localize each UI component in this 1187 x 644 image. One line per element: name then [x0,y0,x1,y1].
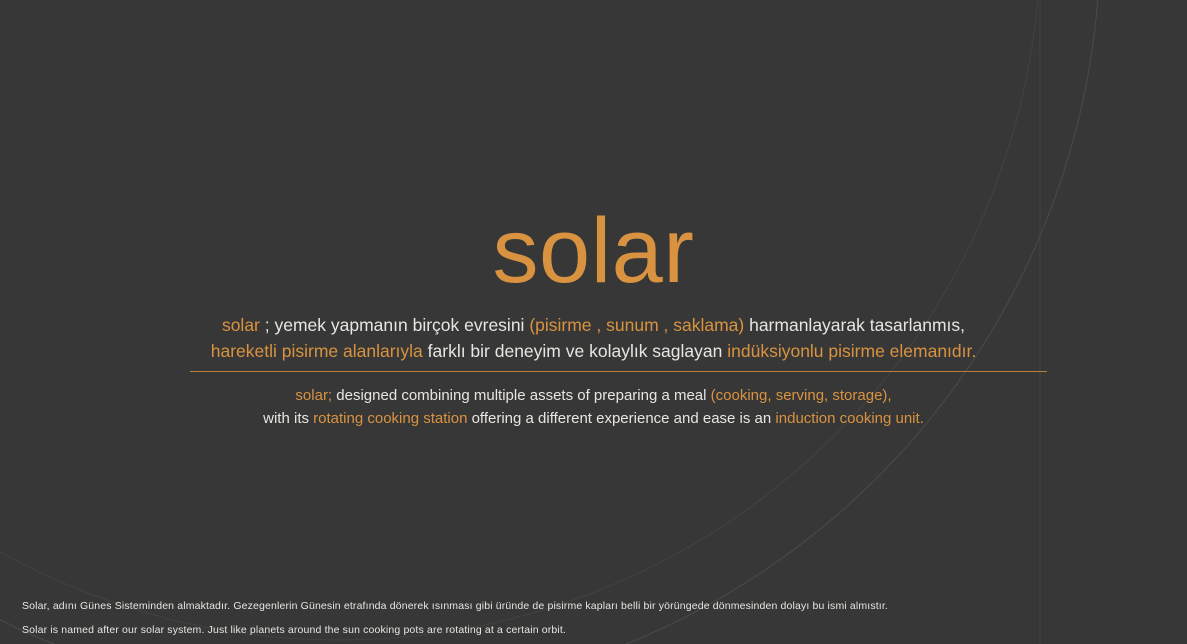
english-description: solar; designed combining multiple asset… [0,384,1187,430]
turkish-line1-seg1: ; yemek yapmanın birçok evresini [260,315,529,335]
turkish-line2-accent1: hareketli pisirme alanlarıyla [211,341,423,361]
english-line2-accent1: rotating cooking station [313,410,467,427]
turkish-line1-seg2: harmanlayarak tasarlanmıs, [744,315,965,335]
turkish-line-1: solar ; yemek yapmanın birçok evresini (… [0,312,1187,338]
english-line-1: solar; designed combining multiple asset… [0,384,1187,407]
divider-rule [190,371,1047,372]
english-line1-accent1: (cooking, serving, storage), [711,387,892,404]
brand-word-tr: solar [222,315,260,335]
turkish-line-2: hareketli pisirme alanlarıyla farklı bir… [0,338,1187,364]
brand-word-en: solar; [295,387,332,404]
english-line-2: with its rotating cooking station offeri… [0,407,1187,430]
english-line1-seg1: designed combining multiple assets of pr… [332,387,711,404]
turkish-line1-accent1: (pisirme , sunum , saklama) [529,315,744,335]
turkish-description: solar ; yemek yapmanın birçok evresini (… [0,312,1187,364]
english-line2-seg2: offering a different experience and ease… [467,410,775,427]
footnote-turkish: Solar, adını Günes Sisteminden almaktadı… [22,598,1122,614]
english-line2-seg1: with its [263,410,313,427]
turkish-line2-seg1: farklı bir deneyim ve kolaylık saglayan [423,341,727,361]
footnote-english: Solar is named after our solar system. J… [22,622,1122,638]
english-line2-accent2: induction cooking unit. [775,410,923,427]
slide-canvas: solar solar ; yemek yapmanın birçok evre… [0,0,1187,644]
page-title: solar [0,205,1187,297]
turkish-line2-accent2: indüksiyonlu pisirme elemanıdır. [727,341,976,361]
